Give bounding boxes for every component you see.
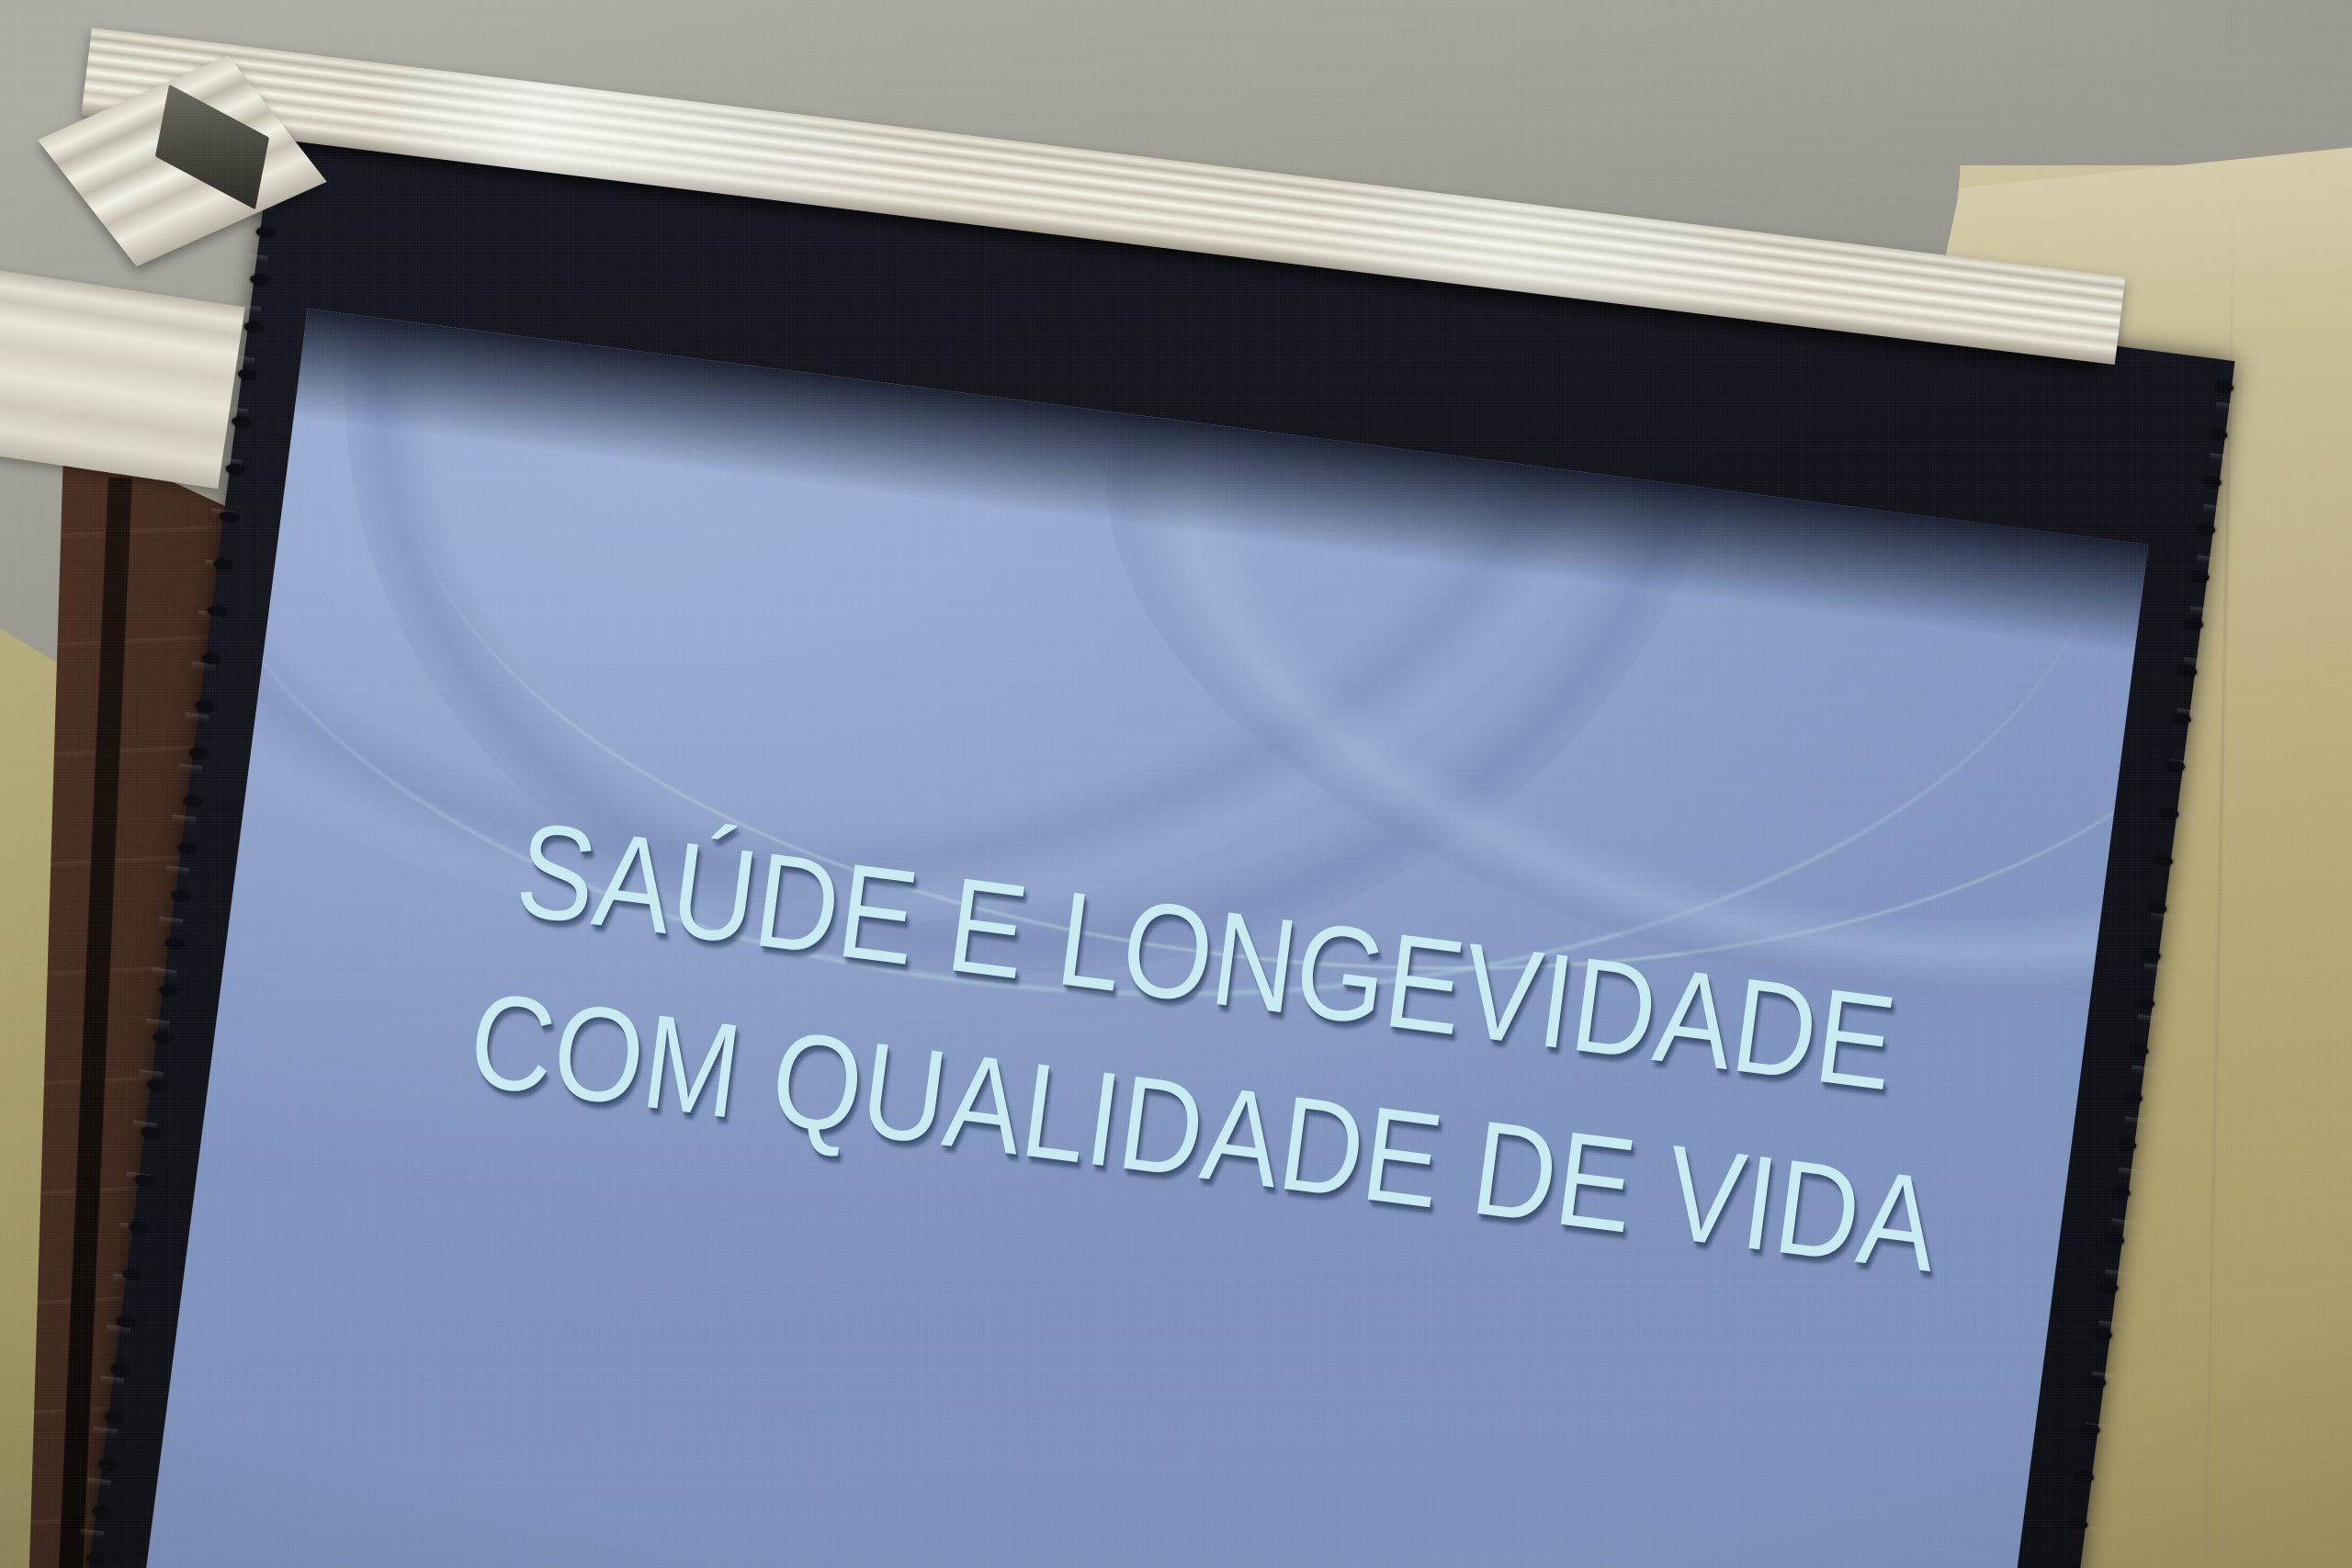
slide-title: SAÚDE E LONGEVIDADE COM QUALIDADE DE VID… — [460, 779, 1931, 1307]
photo-scene: SAÚDE E LONGEVIDADE COM QUALIDADE DE VID… — [0, 0, 2352, 1568]
